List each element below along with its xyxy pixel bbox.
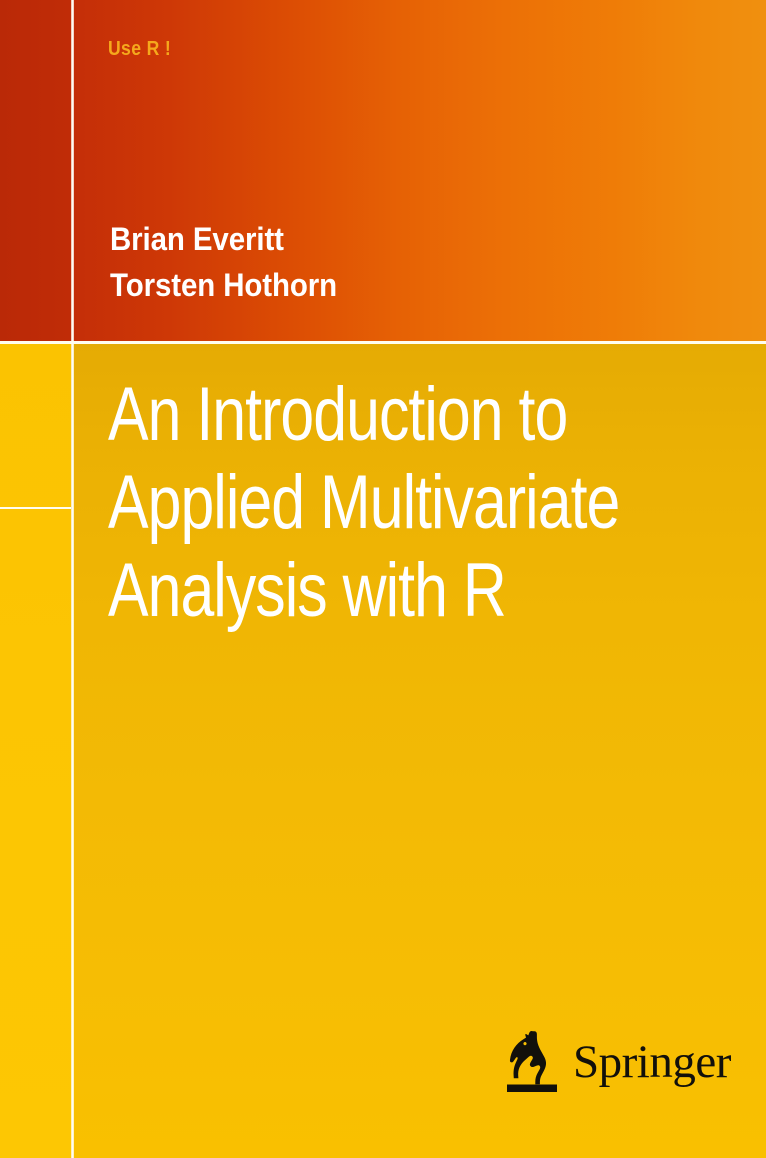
author-block: Brian Everitt Torsten Hothorn xyxy=(110,216,357,308)
title-line: Analysis with R xyxy=(108,547,636,635)
series-label: Use R ! xyxy=(108,38,171,61)
springer-knight-icon xyxy=(501,1029,563,1095)
publisher-logo: Springer xyxy=(501,1029,701,1097)
body-left-column xyxy=(0,343,71,1158)
left-column-divider-rule xyxy=(0,507,71,509)
header-left-column xyxy=(0,0,71,343)
vertical-divider-rule xyxy=(71,0,74,1158)
horizontal-divider-rule xyxy=(0,341,766,344)
publisher-name: Springer xyxy=(573,1037,731,1087)
book-title: An Introduction to Applied Multivariate … xyxy=(108,371,766,635)
book-cover: Use R ! Brian Everitt Torsten Hothorn An… xyxy=(0,0,766,1158)
title-line: An Introduction to xyxy=(108,371,636,459)
author-name: Torsten Hothorn xyxy=(110,262,337,308)
title-line: Applied Multivariate xyxy=(108,459,636,547)
author-name: Brian Everitt xyxy=(110,216,337,262)
